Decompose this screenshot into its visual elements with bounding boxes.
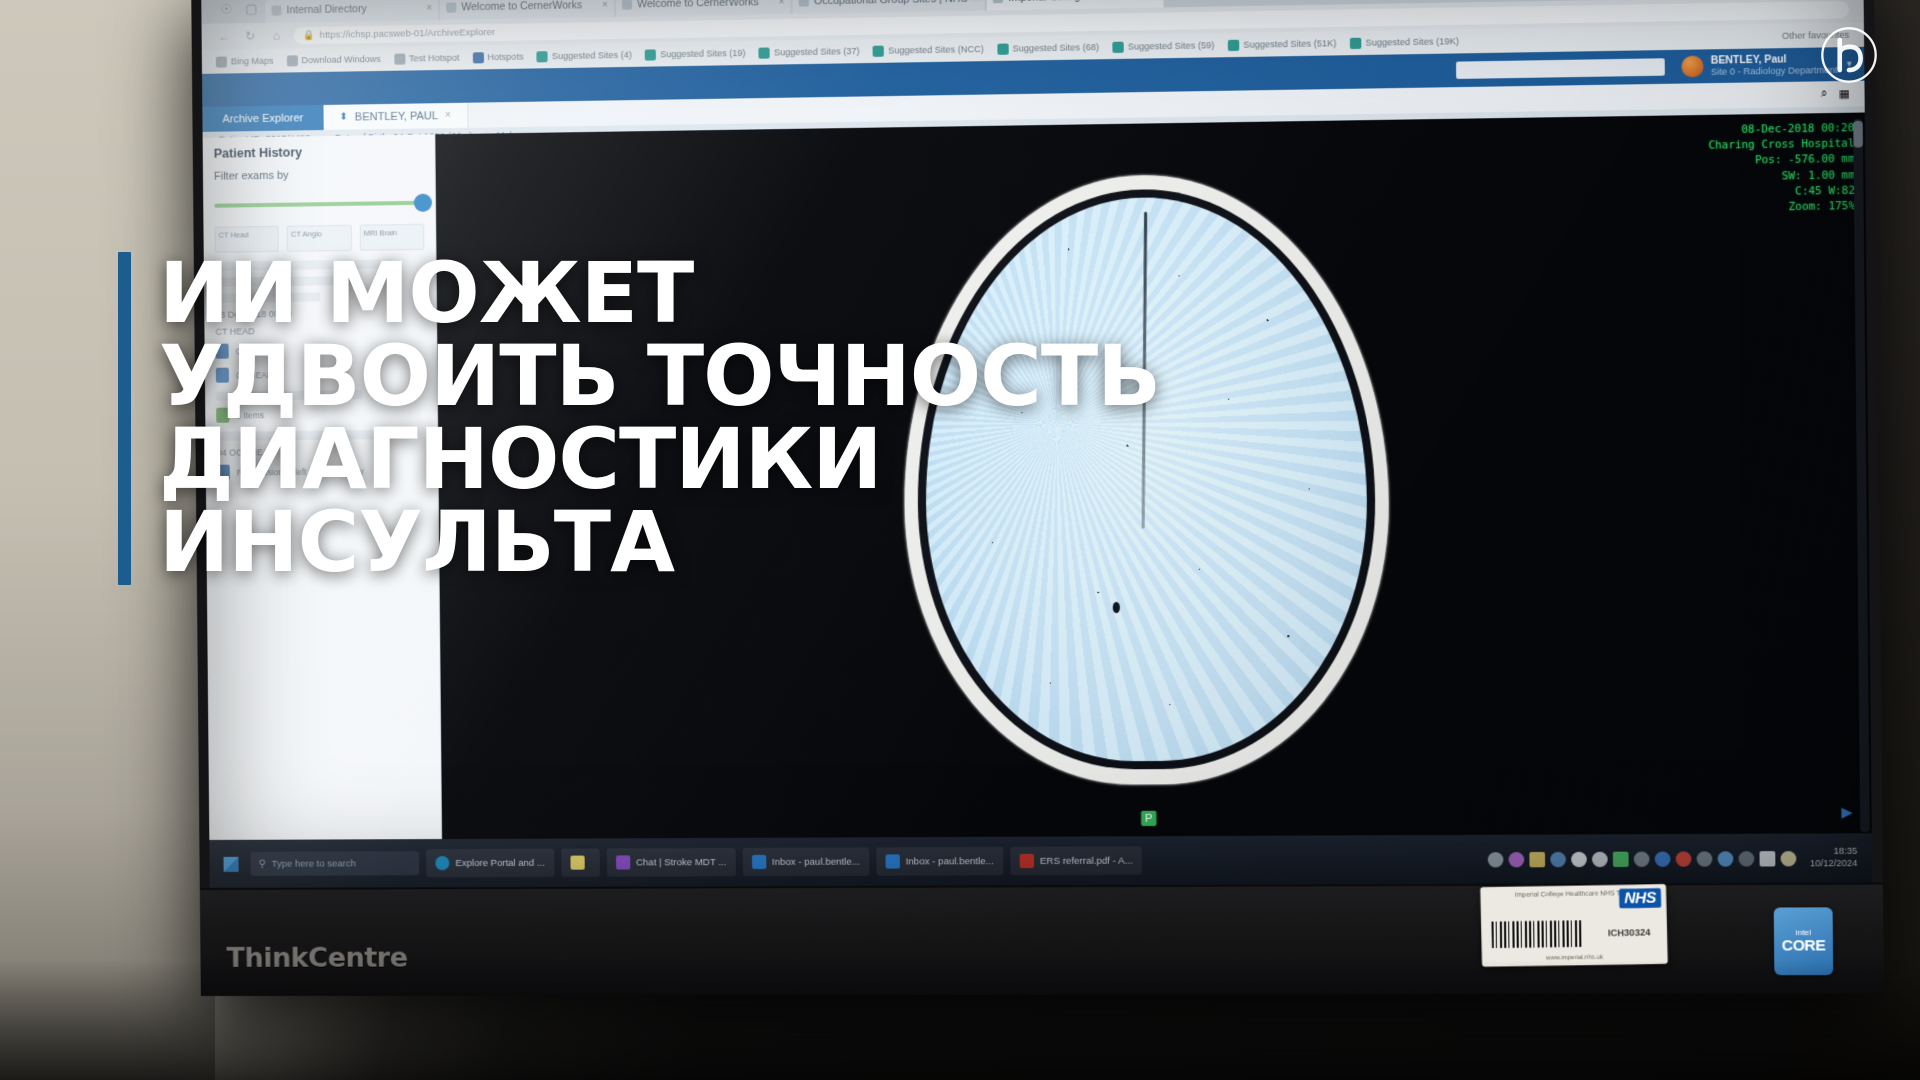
- headline-line: УДВОИТЬ ТОЧНОСТЬ: [159, 335, 1160, 418]
- intel-core-label: CORE: [1782, 937, 1826, 955]
- nhs-asset-label: Imperial College Healthcare NHS Trust NH…: [1480, 884, 1668, 967]
- accent-bar: [118, 252, 131, 585]
- headline-line: ИНСУЛЬТА: [159, 501, 1160, 584]
- nhs-logo: NHS: [1619, 888, 1661, 908]
- asset-id: ICH30324: [1608, 927, 1651, 938]
- desk-shadow: [0, 960, 1920, 1080]
- barcode: [1491, 920, 1581, 948]
- intel-label: intel: [1796, 928, 1812, 937]
- headline-block: ИИ МОЖЕТ УДВОИТЬ ТОЧНОСТЬ ДИАГНОСТИКИ ИН…: [118, 252, 1160, 585]
- kommersant-logo: [1820, 26, 1878, 84]
- headline-line: ИИ МОЖЕТ: [159, 252, 1160, 335]
- headline-line: ДИАГНОСТИКИ: [159, 418, 1160, 501]
- page-title: ИИ МОЖЕТ УДВОИТЬ ТОЧНОСТЬ ДИАГНОСТИКИ ИН…: [159, 252, 1160, 585]
